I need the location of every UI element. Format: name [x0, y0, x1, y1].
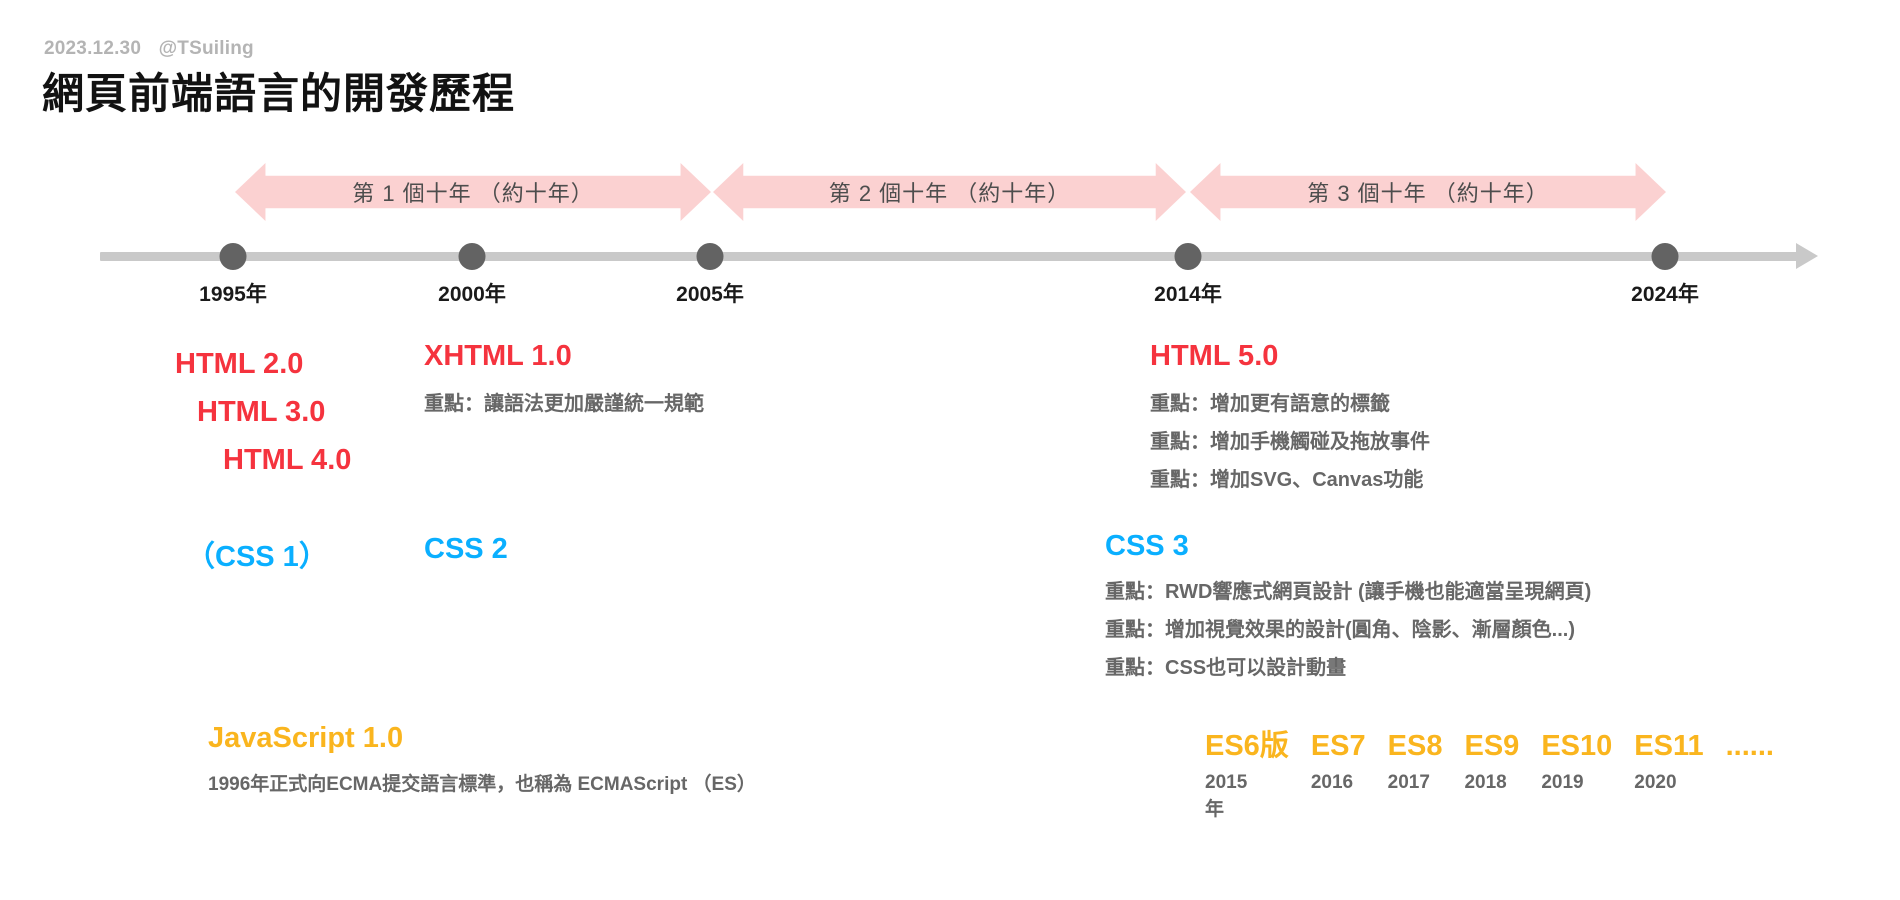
javascript-title: JavaScript 1.0 [208, 722, 756, 755]
timeline-dot [1652, 243, 1679, 270]
decade-arrow-2: 第 2 個十年 （約十年） [713, 163, 1186, 221]
timeline-year-label: 2005年 [676, 278, 744, 308]
css3-title: CSS 3 [1105, 530, 1591, 563]
timeline-dot [1175, 243, 1202, 270]
author-handle: @TSuiling [159, 38, 254, 59]
css1-title: （CSS 1） [186, 533, 328, 575]
html-version-item: HTML 2.0 [175, 340, 351, 388]
timeline-year-label: 2024年 [1631, 278, 1699, 308]
css2-title: CSS 2 [424, 533, 508, 566]
javascript-block: JavaScript 1.0 1996年正式向ECMA提交語言標準，也稱為 EC… [208, 722, 756, 796]
xhtml-title: XHTML 1.0 [424, 340, 704, 373]
html5-note: 重點：增加手機觸碰及拖放事件 [1150, 423, 1430, 461]
ecmascript-version: ES9 [1464, 730, 1519, 763]
html5-note: 重點：增加更有語意的標籤 [1150, 385, 1430, 423]
timeline-dot [459, 243, 486, 270]
decade-arrow-label: 第 2 個十年 （約十年） [829, 176, 1071, 208]
publish-date: 2023.12.30 [44, 38, 141, 59]
timeline-dot [697, 243, 724, 270]
xhtml-block: XHTML 1.0 重點：讓語法更加嚴謹統一規範 [424, 340, 704, 423]
decade-arrow-3: 第 3 個十年 （約十年） [1190, 163, 1666, 221]
ecmascript-version: ES11 [1634, 730, 1703, 763]
ecmascript-year: 2019 [1541, 772, 1583, 794]
timeline-dot [220, 243, 247, 270]
html-version-item: HTML 3.0 [175, 388, 351, 436]
html5-block: HTML 5.0 重點：增加更有語意的標籤 重點：增加手機觸碰及拖放事件 重點：… [1150, 340, 1430, 499]
html5-title: HTML 5.0 [1150, 340, 1430, 373]
page-title: 網頁前端語言的開發歷程 [42, 60, 515, 121]
ecmascript-year: 2015年 [1205, 772, 1247, 821]
css3-note: 重點：增加視覺效果的設計(圓角、陰影、漸層顏色...) [1105, 611, 1591, 649]
xhtml-note: 重點：讓語法更加嚴謹統一規範 [424, 385, 704, 423]
ecmascript-version: ES8 [1388, 730, 1443, 763]
html-early-versions: HTML 2.0 HTML 3.0 HTML 4.0 [175, 340, 351, 484]
html-version-item: HTML 4.0 [175, 436, 351, 484]
infographic-canvas: 2023.12.30 @TSuiling 網頁前端語言的開發歷程 第 1 個十年… [0, 0, 1900, 900]
css3-note: 重點：CSS也可以設計動畫 [1105, 649, 1591, 687]
ecmascript-version: ES7 [1311, 730, 1366, 763]
ecmascript-year: 2020 [1634, 772, 1676, 794]
decade-arrow-1: 第 1 個十年 （約十年） [235, 163, 711, 221]
ecmascript-version: ES6版 [1205, 722, 1289, 764]
html5-note: 重點：增加SVG、Canvas功能 [1150, 461, 1430, 499]
ecmascript-year: 2017 [1388, 772, 1430, 794]
timeline-axis [100, 252, 1800, 261]
ecmascript-year: 2018 [1464, 772, 1506, 794]
ecmascript-version: ...... [1726, 730, 1774, 763]
ecmascript-year: 2016 [1311, 772, 1353, 794]
decade-arrow-label: 第 1 個十年 （約十年） [352, 176, 594, 208]
css3-block: CSS 3 重點：RWD響應式網頁設計 (讓手機也能適當呈現網頁) 重點：增加視… [1105, 530, 1591, 687]
timeline-arrowhead-icon [1796, 243, 1818, 269]
ecmascript-version-row: ES6版ES7ES8ES9ES10ES11...... [1205, 722, 1774, 764]
timeline-year-label: 2000年 [438, 278, 506, 308]
decade-arrow-label: 第 3 個十年 （約十年） [1307, 176, 1549, 208]
timeline-year-label: 1995年 [199, 278, 267, 308]
byline: 2023.12.30 @TSuiling [44, 38, 254, 60]
ecmascript-version: ES10 [1541, 730, 1612, 763]
css3-note: 重點：RWD響應式網頁設計 (讓手機也能適當呈現網頁) [1105, 573, 1591, 611]
javascript-note: 1996年正式向ECMA提交語言標準，也稱為 ECMAScript （ES） [208, 769, 756, 796]
timeline-year-label: 2014年 [1154, 278, 1222, 308]
